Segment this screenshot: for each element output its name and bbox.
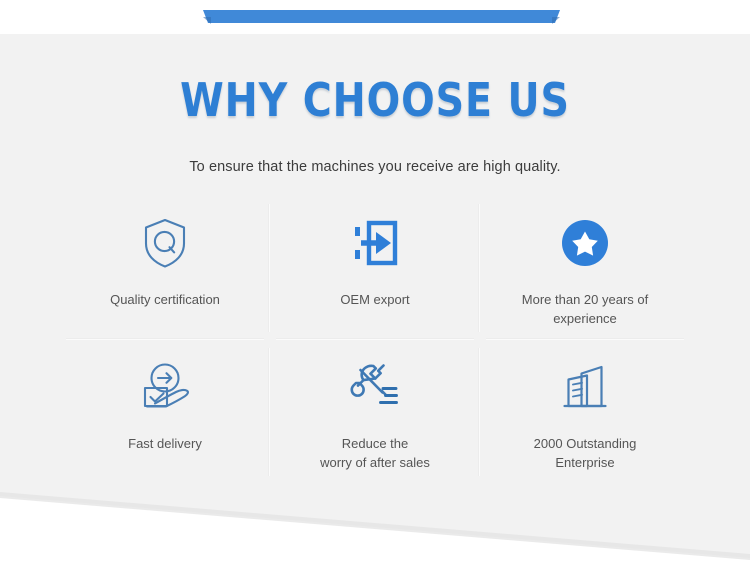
feature-cell-outstanding-enterprise[interactable]: 2000 Outstanding Enterprise bbox=[480, 340, 690, 484]
feature-cell-years-experience[interactable]: More than 20 years of experience bbox=[480, 196, 690, 340]
feature-cell-quality-certification[interactable]: Quality certification bbox=[60, 196, 270, 340]
ribbon-container bbox=[0, 0, 750, 34]
export-arrow-icon bbox=[347, 212, 403, 274]
star-badge-icon bbox=[559, 212, 611, 274]
feature-label: 2000 Outstanding Enterprise bbox=[534, 434, 637, 472]
page-subtitle: To ensure that the machines you receive … bbox=[0, 159, 750, 175]
shield-quality-icon bbox=[136, 212, 194, 274]
why-choose-us-section: WHY CHOOSE US To ensure that the machine… bbox=[0, 0, 750, 574]
feature-label: Quality certification bbox=[110, 290, 220, 309]
wrench-screwdriver-icon bbox=[347, 356, 403, 418]
feature-label: Fast delivery bbox=[128, 434, 202, 453]
feature-label: OEM export bbox=[340, 290, 409, 309]
feature-label: Reduce the worry of after sales bbox=[320, 434, 430, 472]
feature-cell-after-sales[interactable]: Reduce the worry of after sales bbox=[270, 340, 480, 484]
feature-label: More than 20 years of experience bbox=[522, 290, 648, 328]
top-blue-ribbon bbox=[203, 10, 560, 23]
feature-cell-fast-delivery[interactable]: Fast delivery bbox=[60, 340, 270, 484]
office-building-icon bbox=[557, 356, 613, 418]
feature-cell-oem-export[interactable]: OEM export bbox=[270, 196, 480, 340]
page-title: WHY CHOOSE US bbox=[53, 74, 698, 126]
feature-grid: Quality certification OEM export bbox=[60, 196, 690, 484]
hand-delivery-icon bbox=[135, 356, 195, 418]
ribbon-fold-left-icon bbox=[203, 17, 211, 24]
